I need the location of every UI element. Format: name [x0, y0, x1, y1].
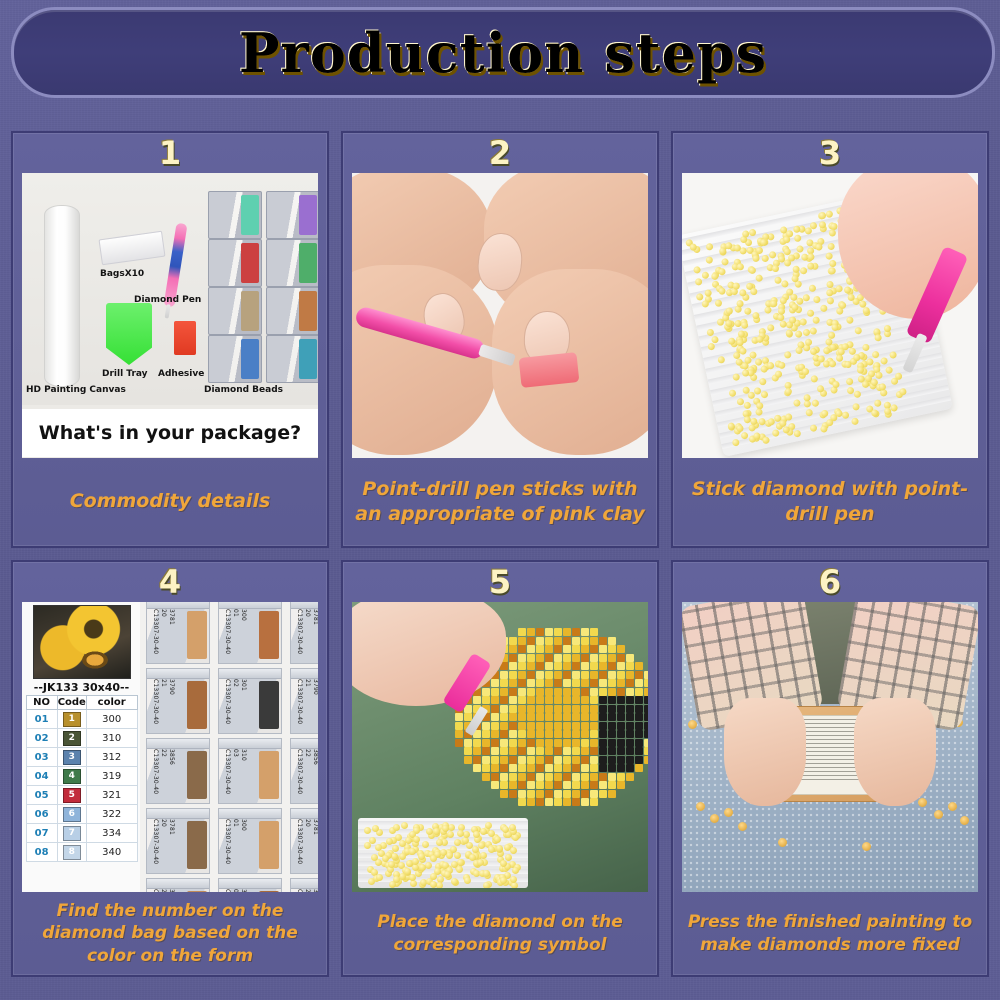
mosaic-pixel	[563, 764, 571, 772]
mosaic-pixel	[572, 705, 580, 713]
bead-bag-column-right: C13307-30-40203781C13307-30-40213790C133…	[290, 602, 318, 892]
mosaic-pixel	[554, 662, 562, 670]
step-photo-3	[682, 173, 978, 458]
cell-no: 03	[26, 748, 57, 767]
mosaic-pixel	[491, 781, 499, 789]
mosaic-pixel	[626, 747, 634, 755]
yellow-bead	[783, 351, 791, 359]
mosaic-pixel	[500, 747, 508, 755]
gold-bead	[710, 814, 719, 823]
bead-bag-color: 301	[240, 889, 247, 892]
yellow-bead	[454, 852, 461, 859]
mosaic-pixel	[635, 747, 643, 755]
mosaic-pixel	[482, 688, 490, 696]
mosaic-pixel	[536, 730, 544, 738]
color-swatch: 6	[63, 807, 81, 822]
mosaic-pixel	[608, 654, 616, 662]
mosaic-pixel	[563, 679, 571, 687]
mosaic-pixel	[563, 688, 571, 696]
bead-bag: C13307-30-40213790	[290, 878, 318, 892]
cell-color: 340	[86, 843, 137, 862]
mosaic-pixel	[572, 722, 580, 730]
color-swatch: 4	[63, 769, 81, 784]
step-caption-1: Commodity details	[13, 458, 327, 546]
yellow-bead	[784, 387, 792, 395]
mosaic-pixel	[608, 705, 616, 713]
mosaic-pixel	[554, 781, 562, 789]
mosaic-pixel	[626, 679, 634, 687]
yellow-bead	[413, 836, 420, 843]
bead-bag: C13307-30-40203781	[290, 808, 318, 874]
gold-bead	[696, 802, 705, 811]
mosaic-pixel	[554, 654, 562, 662]
cell-no: 08	[26, 843, 57, 862]
mosaic-pixel	[536, 628, 544, 636]
mosaic-pixel	[590, 705, 598, 713]
cell-color: 319	[86, 767, 137, 786]
mosaic-pixel	[572, 713, 580, 721]
mosaic-pixel	[545, 645, 553, 653]
mosaic-pixel	[554, 798, 562, 806]
color-chart-row: 066322	[26, 805, 137, 824]
yellow-bead	[874, 399, 882, 407]
mosaic-pixel	[599, 773, 607, 781]
yellow-bead	[412, 858, 419, 865]
step-panel-4: 4 --JK133 30x40-- NO Code color	[11, 560, 329, 977]
mosaic-pixel	[545, 739, 553, 747]
placing-diamond-photo	[352, 602, 648, 892]
step-caption-4: Find the number on the diamond bag based…	[13, 892, 327, 975]
mosaic-pixel	[545, 662, 553, 670]
mosaic-pixel	[626, 756, 634, 764]
mosaic-pixel	[545, 781, 553, 789]
cell-code: 8	[57, 843, 86, 862]
mosaic-pixel	[581, 671, 589, 679]
mosaic-pixel	[554, 739, 562, 747]
mosaic-pixel	[518, 654, 526, 662]
bead-bag-color: 3790	[168, 679, 175, 725]
yellow-bead	[826, 288, 834, 296]
yellow-bead	[809, 424, 817, 432]
mosaic-pixel	[509, 739, 517, 747]
mosaic-pixel	[563, 628, 571, 636]
mosaic-pixel	[590, 739, 598, 747]
mosaic-pixel	[635, 730, 643, 738]
mosaic-pixel	[563, 781, 571, 789]
package-contents-photo: BagsX10 Diamond Pen Drill Tray Adhesive …	[22, 173, 318, 405]
bead-bag-no: 20	[160, 609, 167, 655]
mosaic-pixel	[617, 781, 625, 789]
mosaic-pixel	[500, 679, 508, 687]
mosaic-pixel	[608, 662, 616, 670]
label-bags: BagsX10	[100, 269, 144, 279]
yellow-bead	[454, 839, 461, 846]
mosaic-pixel	[608, 747, 616, 755]
mosaic-pixel	[518, 764, 526, 772]
yellow-bead	[494, 836, 501, 843]
yellow-bead	[762, 436, 770, 444]
cell-code: 4	[57, 767, 86, 786]
mosaic-pixel	[626, 705, 634, 713]
yellow-bead	[736, 398, 744, 406]
bead-bag: C13307-30-40203781	[146, 808, 210, 874]
cell-code: 1	[57, 710, 86, 729]
mosaic-pixel	[473, 696, 481, 704]
mosaic-pixel	[500, 764, 508, 772]
mosaic-pixel	[572, 730, 580, 738]
mosaic-pixel	[518, 790, 526, 798]
mosaic-pixel	[599, 671, 607, 679]
mosaic-pixel	[527, 679, 535, 687]
mosaic-pixel	[617, 696, 625, 704]
mosaic-pixel	[572, 798, 580, 806]
cell-no: 01	[26, 710, 57, 729]
mosaic-pixel	[572, 679, 580, 687]
yellow-bead	[376, 874, 383, 881]
mosaic-pixel	[590, 713, 598, 721]
yellow-bead	[480, 828, 487, 835]
mosaic-pixel	[500, 773, 508, 781]
mosaic-pixel	[554, 705, 562, 713]
yellow-bead	[828, 266, 836, 274]
mosaic-pixel	[626, 713, 634, 721]
bead-bag-no: 20	[304, 609, 311, 655]
mosaic-pixel	[536, 662, 544, 670]
mosaic-pixel	[644, 756, 648, 764]
bead-bag-no: 21	[304, 679, 311, 725]
adhesive-object	[174, 321, 196, 355]
yellow-bead	[835, 284, 843, 292]
step-number-3: 3	[673, 133, 987, 173]
mosaic-pixel	[500, 713, 508, 721]
mosaic-pixel	[473, 764, 481, 772]
bead-bag-no: 22	[160, 749, 167, 795]
yellow-bead	[705, 243, 713, 251]
mosaic-pixel	[572, 739, 580, 747]
mosaic-pixel	[500, 696, 508, 704]
bead-bag-color: 3856	[312, 749, 318, 795]
mosaic-pixel	[599, 756, 607, 764]
bead-bag: C13307-30-40203781	[146, 602, 210, 664]
step-number-1: 1	[13, 133, 327, 173]
mosaic-pixel	[518, 773, 526, 781]
gold-bead	[862, 842, 871, 851]
yellow-bead	[405, 837, 412, 844]
yellow-bead	[422, 841, 429, 848]
bead-bag-no: 01	[232, 819, 239, 865]
bead-bag-label: C13307-30-40	[296, 679, 303, 725]
mosaic-pixel	[644, 705, 648, 713]
mosaic-pixel	[482, 730, 490, 738]
mosaic-pixel	[518, 628, 526, 636]
yellow-bead	[821, 410, 829, 418]
mosaic-pixel	[563, 645, 571, 653]
mosaic-pixel	[590, 790, 598, 798]
mosaic-pixel	[545, 790, 553, 798]
mosaic-pixel	[644, 671, 648, 679]
mosaic-pixel	[599, 722, 607, 730]
left-hand	[724, 698, 806, 806]
bead-bag-label: C13307-30-40	[152, 889, 159, 892]
mosaic-pixel	[554, 764, 562, 772]
mosaic-pixel	[599, 781, 607, 789]
bead-strip-right	[266, 191, 318, 391]
mosaic-pixel	[563, 790, 571, 798]
mosaic-pixel	[527, 696, 535, 704]
step-number-6: 6	[673, 562, 987, 602]
mosaic-pixel	[491, 764, 499, 772]
mosaic-pixel	[563, 747, 571, 755]
color-chart-row: 011300	[26, 710, 137, 729]
mosaic-pixel	[608, 739, 616, 747]
bead-bag: C13307-30-40223856	[146, 738, 210, 804]
package-photo-headline: What's in your package?	[22, 409, 318, 457]
mosaic-pixel	[626, 722, 634, 730]
mosaic-pixel	[509, 713, 517, 721]
mosaic-pixel	[581, 747, 589, 755]
mosaic-pixel	[617, 705, 625, 713]
bead-bag-color: 301	[240, 679, 247, 725]
mosaic-pixel	[590, 637, 598, 645]
mosaic-pixel	[545, 688, 553, 696]
mosaic-pixel	[563, 739, 571, 747]
mosaic-pixel	[581, 705, 589, 713]
label-diamond-beads: Diamond Beads	[204, 385, 283, 395]
mosaic-pixel	[536, 773, 544, 781]
mosaic-pixel	[590, 773, 598, 781]
mosaic-pixel	[509, 679, 517, 687]
mosaic-pixel	[626, 730, 634, 738]
color-swatch: 8	[63, 845, 81, 860]
mosaic-pixel	[536, 637, 544, 645]
step-photo-1: BagsX10 Diamond Pen Drill Tray Adhesive …	[22, 173, 318, 458]
mosaic-pixel	[518, 696, 526, 704]
mosaic-pixel	[590, 722, 598, 730]
yellow-bead	[446, 852, 453, 859]
mosaic-pixel	[617, 739, 625, 747]
mosaic-pixel	[527, 764, 535, 772]
mosaic-pixel	[536, 747, 544, 755]
mosaic-pixel	[617, 756, 625, 764]
mosaic-pixel	[581, 764, 589, 772]
color-chart-row: 044319	[26, 767, 137, 786]
mosaic-pixel	[500, 730, 508, 738]
yellow-bead	[472, 846, 479, 853]
mosaic-pixel	[572, 747, 580, 755]
mosaic-pixel	[617, 671, 625, 679]
bead-bag-column-middle: C13307-30-4001300C13307-30-4002301C13307…	[218, 602, 280, 892]
mosaic-pixel	[626, 654, 634, 662]
yellow-bead	[777, 307, 785, 315]
mosaic-pixel	[563, 705, 571, 713]
mosaic-pixel	[626, 773, 634, 781]
yellow-bead	[771, 264, 779, 272]
yellow-bead	[473, 831, 480, 838]
mosaic-pixel	[599, 688, 607, 696]
step-caption-2: Point-drill pen sticks with an appropria…	[343, 458, 657, 546]
yellow-bead	[426, 828, 433, 835]
cell-code: 6	[57, 805, 86, 824]
mosaic-pixel	[518, 662, 526, 670]
mosaic-pixel	[608, 713, 616, 721]
mosaic-pixel	[455, 722, 463, 730]
yellow-bead	[436, 839, 443, 846]
bead-bag-no: 21	[160, 889, 167, 892]
mosaic-pixel	[617, 654, 625, 662]
mosaic-pixel	[545, 747, 553, 755]
mosaic-pixel	[608, 645, 616, 653]
mosaic-pixel	[491, 696, 499, 704]
mosaic-pixel	[527, 798, 535, 806]
mosaic-pixel	[635, 662, 643, 670]
color-chart-header-row: NO Code color	[26, 696, 137, 710]
mosaic-pixel	[572, 781, 580, 789]
mosaic-pixel	[635, 739, 643, 747]
mosaic-pixel	[563, 671, 571, 679]
bead-bag-label: C13307-30-40	[296, 889, 303, 892]
mosaic-pixel	[536, 679, 544, 687]
cell-code: 2	[57, 729, 86, 748]
mosaic-pixel	[509, 705, 517, 713]
mosaic-pixel	[644, 688, 648, 696]
gold-bead	[778, 838, 787, 847]
yellow-bead	[433, 828, 440, 835]
label-hd-painting-canvas: HD Painting Canvas	[26, 385, 126, 395]
mosaic-pixel	[608, 730, 616, 738]
mosaic-pixel	[482, 696, 490, 704]
mosaic-pixel	[527, 739, 535, 747]
mosaic-pixel	[455, 713, 463, 721]
cell-color: 321	[86, 786, 137, 805]
bead-bag: C13307-30-40203781	[290, 602, 318, 664]
pink-clay-object	[519, 352, 580, 388]
canvas-roll-object	[44, 205, 80, 387]
bead-bag-label: C13307-30-40	[224, 609, 231, 655]
yellow-bead	[393, 876, 400, 883]
mosaic-pixel	[500, 790, 508, 798]
mosaic-pixel	[509, 756, 517, 764]
step-panel-3: 3 Stick diamond with point-drill pen	[671, 131, 989, 548]
mosaic-pixel	[599, 654, 607, 662]
mosaic-pixel	[455, 739, 463, 747]
yellow-bead	[844, 360, 852, 368]
mosaic-pixel	[581, 790, 589, 798]
mosaic-pixel	[518, 798, 526, 806]
cell-code: 7	[57, 824, 86, 843]
mosaic-pixel	[644, 739, 648, 747]
mosaic-pixel	[599, 705, 607, 713]
bead-bag-label: C13307-30-40	[296, 609, 303, 655]
mosaic-pixel	[545, 730, 553, 738]
mosaic-pixel	[554, 696, 562, 704]
mosaic-pixel	[527, 747, 535, 755]
yellow-bead	[369, 837, 376, 844]
bead-bag-label: C13307-30-40	[224, 749, 231, 795]
mosaic-pixel	[509, 696, 517, 704]
mosaic-pixel	[590, 654, 598, 662]
yellow-bead	[440, 849, 447, 856]
mosaic-pixel	[608, 773, 616, 781]
mosaic-pixel	[581, 654, 589, 662]
mosaic-pixel	[554, 747, 562, 755]
step-caption-3: Stick diamond with point-drill pen	[673, 458, 987, 546]
mosaic-pixel	[644, 722, 648, 730]
color-chart-table: NO Code color 01130002231003331204431905…	[26, 695, 138, 862]
mosaic-pixel	[554, 628, 562, 636]
mosaic-pixel	[608, 688, 616, 696]
gold-bead	[960, 816, 969, 825]
mosaic-pixel	[599, 696, 607, 704]
yellow-bead	[419, 864, 426, 871]
yellow-bead	[800, 267, 808, 275]
mosaic-pixel	[599, 747, 607, 755]
yellow-bead	[469, 854, 476, 861]
mosaic-pixel	[527, 713, 535, 721]
mosaic-pixel	[563, 662, 571, 670]
bead-bags-photo: C13307-30-40203781C13307-30-40213790C133…	[140, 602, 318, 892]
cell-color: 300	[86, 710, 137, 729]
mosaic-pixel	[581, 628, 589, 636]
mosaic-pixel	[527, 722, 535, 730]
mosaic-pixel	[536, 713, 544, 721]
label-adhesive: Adhesive	[158, 369, 204, 379]
mosaic-pixel	[527, 637, 535, 645]
mosaic-pixel	[527, 645, 535, 653]
gold-bead	[738, 822, 747, 831]
gold-bead	[918, 798, 927, 807]
mosaic-pixel	[617, 713, 625, 721]
step-photo-6	[682, 602, 978, 892]
mosaic-pixel	[509, 645, 517, 653]
yellow-bead	[372, 825, 379, 832]
mosaic-pixel	[635, 764, 643, 772]
mosaic-pixel	[554, 730, 562, 738]
mosaic-pixel	[527, 730, 535, 738]
yellow-bead	[510, 847, 517, 854]
mosaic-pixel	[590, 679, 598, 687]
mosaic-pixel	[545, 628, 553, 636]
yellow-bead	[483, 882, 490, 888]
step-photo-5	[352, 602, 648, 892]
mosaic-pixel	[608, 764, 616, 772]
mosaic-pixel	[482, 764, 490, 772]
mosaic-pixel	[599, 739, 607, 747]
step-caption-6: Press the finished painting to make diam…	[673, 892, 987, 975]
mosaic-pixel	[608, 756, 616, 764]
mosaic-pixel	[482, 722, 490, 730]
mosaic-pixel	[491, 730, 499, 738]
mosaic-pixel	[563, 722, 571, 730]
mosaic-pixel	[491, 756, 499, 764]
mosaic-pixel	[563, 637, 571, 645]
yellow-bead	[862, 343, 870, 351]
mosaic-pixel	[608, 637, 616, 645]
mosaic-pixel	[563, 756, 571, 764]
mosaic-pixel	[599, 637, 607, 645]
bead-bag-label: C13307-30-40	[224, 679, 231, 725]
mosaic-pixel	[590, 798, 598, 806]
yellow-bead	[457, 859, 464, 866]
yellow-bead	[464, 877, 471, 884]
yellow-bead	[480, 852, 487, 859]
mosaic-pixel	[581, 798, 589, 806]
mosaic-pixel	[518, 713, 526, 721]
mosaic-pixel	[491, 739, 499, 747]
mosaic-pixel	[617, 645, 625, 653]
mosaic-pixel	[536, 739, 544, 747]
column-header-code: Code	[57, 696, 86, 710]
mosaic-pixel	[545, 654, 553, 662]
